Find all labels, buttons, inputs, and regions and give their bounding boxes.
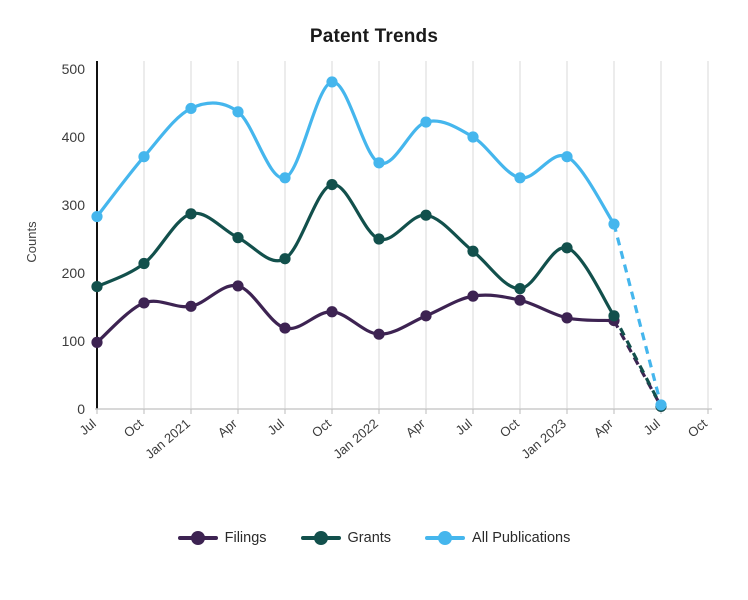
x-tick-label: Apr (215, 415, 241, 440)
x-tick-label: Apr (403, 415, 429, 440)
data-point[interactable] (91, 281, 102, 292)
data-point[interactable] (467, 246, 478, 257)
data-point[interactable] (514, 172, 525, 183)
data-point[interactable] (467, 131, 478, 142)
data-point[interactable] (373, 157, 384, 168)
y-axis-label: Counts (24, 221, 39, 263)
y-tick-label: 500 (62, 61, 86, 77)
data-point[interactable] (514, 283, 525, 294)
y-tick-label: 200 (62, 265, 86, 281)
series-line-dashed-all-publications (614, 224, 661, 405)
data-point[interactable] (373, 233, 384, 244)
y-tick-label: 400 (62, 129, 86, 145)
series-line-all-publications (97, 82, 614, 224)
data-point[interactable] (373, 329, 384, 340)
y-axis-ticks: 0100200300400500 (62, 61, 86, 417)
data-point[interactable] (655, 399, 666, 410)
x-tick-label: Oct (309, 416, 334, 441)
data-point[interactable] (91, 337, 102, 348)
data-point[interactable] (514, 295, 525, 306)
data-point[interactable] (279, 172, 290, 183)
legend-item[interactable]: Grants (301, 530, 392, 546)
data-point[interactable] (138, 297, 149, 308)
data-point[interactable] (420, 210, 431, 221)
legend-swatch-icon (425, 530, 465, 546)
x-tick-label: Jul (641, 416, 663, 438)
data-point[interactable] (232, 106, 243, 117)
data-point[interactable] (608, 218, 619, 229)
x-tick-label: Jul (77, 416, 99, 438)
data-point[interactable] (561, 151, 572, 162)
data-point[interactable] (420, 116, 431, 127)
legend-swatch-icon (178, 530, 218, 546)
data-point[interactable] (185, 208, 196, 219)
y-tick-label: 100 (62, 333, 86, 349)
data-point[interactable] (326, 179, 337, 190)
chart-legend: FilingsGrantsAll Publications (0, 530, 748, 546)
data-point[interactable] (232, 232, 243, 243)
chart-plot-area: 0100200300400500 JulOctJan 2021AprJulOct… (0, 0, 748, 520)
x-tick-label: Oct (497, 416, 522, 441)
data-point[interactable] (608, 310, 619, 321)
x-tick-label: Jan 2023 (518, 416, 569, 462)
series-line-grants (97, 184, 614, 315)
data-point[interactable] (326, 76, 337, 87)
x-tick-label: Oct (121, 416, 146, 441)
legend-label: Grants (348, 530, 392, 546)
data-point[interactable] (185, 301, 196, 312)
data-point[interactable] (279, 322, 290, 333)
x-axis-ticks: JulOctJan 2021AprJulOctJan 2022AprJulOct… (77, 409, 711, 462)
x-tick-label: Oct (685, 416, 710, 441)
series-line-filings (97, 286, 614, 343)
x-tick-label: Jul (453, 416, 475, 438)
y-tick-label: 0 (77, 401, 85, 417)
data-point[interactable] (232, 280, 243, 291)
data-point[interactable] (91, 211, 102, 222)
data-point[interactable] (326, 306, 337, 317)
patent-trends-chart: Patent Trends 0100200300400500 JulOctJan… (0, 0, 748, 600)
legend-label: All Publications (472, 530, 570, 546)
axis-lines (95, 61, 712, 409)
data-point[interactable] (138, 151, 149, 162)
x-tick-label: Jan 2022 (330, 416, 381, 462)
x-tick-label: Apr (591, 415, 617, 440)
data-point[interactable] (420, 310, 431, 321)
y-tick-label: 300 (62, 197, 86, 213)
data-point[interactable] (561, 242, 572, 253)
data-point[interactable] (138, 258, 149, 269)
legend-item[interactable]: Filings (178, 530, 267, 546)
legend-item[interactable]: All Publications (425, 530, 570, 546)
data-point[interactable] (185, 103, 196, 114)
x-tick-label: Jul (265, 416, 287, 438)
data-point[interactable] (467, 291, 478, 302)
data-point[interactable] (279, 253, 290, 264)
legend-label: Filings (225, 530, 267, 546)
x-tick-label: Jan 2021 (142, 416, 193, 462)
legend-swatch-icon (301, 530, 341, 546)
gridlines (144, 61, 708, 409)
data-point[interactable] (561, 312, 572, 323)
